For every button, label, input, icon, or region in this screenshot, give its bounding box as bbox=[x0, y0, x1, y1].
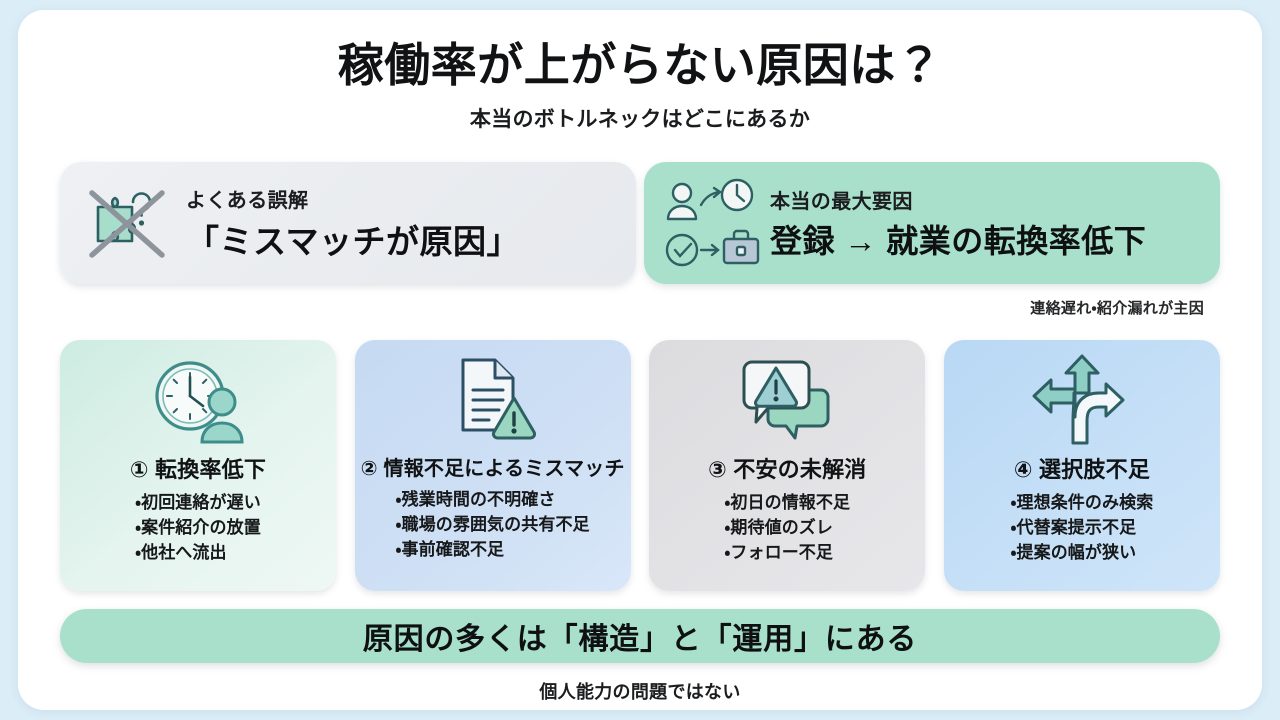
page-subtitle: 本当のボトルネックはどこにあるか bbox=[18, 103, 1262, 133]
myth-kicker: よくある誤解 bbox=[186, 184, 520, 213]
truth-banner: 本当の最大要因 登録 → 就業の転換率低下 bbox=[644, 162, 1220, 284]
list-item: フォロー不足 bbox=[725, 541, 851, 566]
speech-bubbles-warning-icon bbox=[735, 352, 839, 448]
cause-card-2-title: ② 情報不足によるミスマッチ bbox=[361, 452, 625, 481]
document-warning-icon bbox=[441, 352, 545, 448]
cause-card-3-bullets: 初日の情報不足 期待値のズレ フォロー不足 bbox=[725, 491, 851, 566]
cause-card-3: ③ 不安の未解消 初日の情報不足 期待値のズレ フォロー不足 bbox=[649, 340, 925, 591]
myth-banner-text: よくある誤解 「ミスマッチが原因」 bbox=[180, 184, 520, 263]
page-title: 稼働率が上がらない原因は？ bbox=[18, 40, 1262, 91]
cause-card-1-title: ① 転換率低下 bbox=[130, 452, 266, 484]
cause-card-1-bullets: 初回連絡が遅い 案件紹介の放置 他社へ流出 bbox=[135, 491, 261, 566]
conclusion-band: 原因の多くは「構造」と「運用」にある bbox=[60, 609, 1220, 663]
cause-card-2-bullets: 残業時間の不明確さ 職場の雰囲気の共有不足 事前確認不足 bbox=[396, 488, 590, 563]
cause-card-row: ① 転換率低下 初回連絡が遅い 案件紹介の放置 他社へ流出 bbox=[60, 340, 1220, 591]
list-item: 職場の雰囲気の共有不足 bbox=[396, 513, 590, 538]
cause-card-3-title: ③ 不安の未解消 bbox=[708, 452, 866, 484]
conclusion-note: 個人能力の問題ではない bbox=[18, 678, 1262, 704]
list-item: 案件紹介の放置 bbox=[135, 516, 261, 541]
slide-header: 稼働率が上がらない原因は？ 本当のボトルネックはどこにあるか bbox=[18, 10, 1262, 133]
list-item: 初日の情報不足 bbox=[725, 491, 851, 516]
list-item: 事前確認不足 bbox=[396, 538, 590, 563]
myth-headline: 「ミスマッチが原因」 bbox=[186, 215, 520, 263]
cause-card-1: ① 転換率低下 初回連絡が遅い 案件紹介の放置 他社へ流出 bbox=[60, 340, 336, 591]
myth-banner: よくある誤解 「ミスマッチが原因」 bbox=[60, 162, 636, 284]
truth-banner-text: 本当の最大要因 登録 → 就業の転換率低下 bbox=[764, 185, 1146, 262]
conclusion-text: 原因の多くは「構造」と「運用」にある bbox=[363, 614, 917, 658]
truth-kicker: 本当の最大要因 bbox=[770, 185, 1146, 214]
cause-card-4-title: ④ 選択肢不足 bbox=[1014, 452, 1150, 484]
list-item: 初回連絡が遅い bbox=[135, 491, 261, 516]
truth-banner-note: 連絡遅れ・紹介漏れが主因 bbox=[1030, 297, 1204, 318]
cause-card-4-bullets: 理想条件のみ検索 代替案提示不足 提案の幅が狭い bbox=[1011, 491, 1154, 566]
list-item: 提案の幅が狭い bbox=[1011, 541, 1154, 566]
cause-card-4: ④ 選択肢不足 理想条件のみ検索 代替案提示不足 提案の幅が狭い bbox=[944, 340, 1220, 591]
list-item: 残業時間の不明確さ bbox=[396, 488, 590, 513]
slide-canvas: 稼働率が上がらない原因は？ 本当のボトルネックはどこにあるか bbox=[18, 10, 1262, 710]
list-item: 代替案提示不足 bbox=[1011, 516, 1154, 541]
truth-headline: 登録 → 就業の転換率低下 bbox=[770, 216, 1146, 262]
clock-person-icon bbox=[146, 352, 250, 448]
three-way-arrow-icon bbox=[1030, 352, 1134, 448]
list-item: 理想条件のみ検索 bbox=[1011, 491, 1154, 516]
list-item: 期待値のズレ bbox=[725, 516, 851, 541]
banner-row: よくある誤解 「ミスマッチが原因」 bbox=[18, 162, 1262, 284]
crossed-out-puzzle-question-icon bbox=[76, 171, 180, 275]
person-clock-check-briefcase-icon bbox=[660, 171, 764, 275]
list-item: 他社へ流出 bbox=[135, 541, 261, 566]
cause-card-2: ② 情報不足によるミスマッチ 残業時間の不明確さ 職場の雰囲気の共有不足 事前確… bbox=[355, 340, 631, 591]
